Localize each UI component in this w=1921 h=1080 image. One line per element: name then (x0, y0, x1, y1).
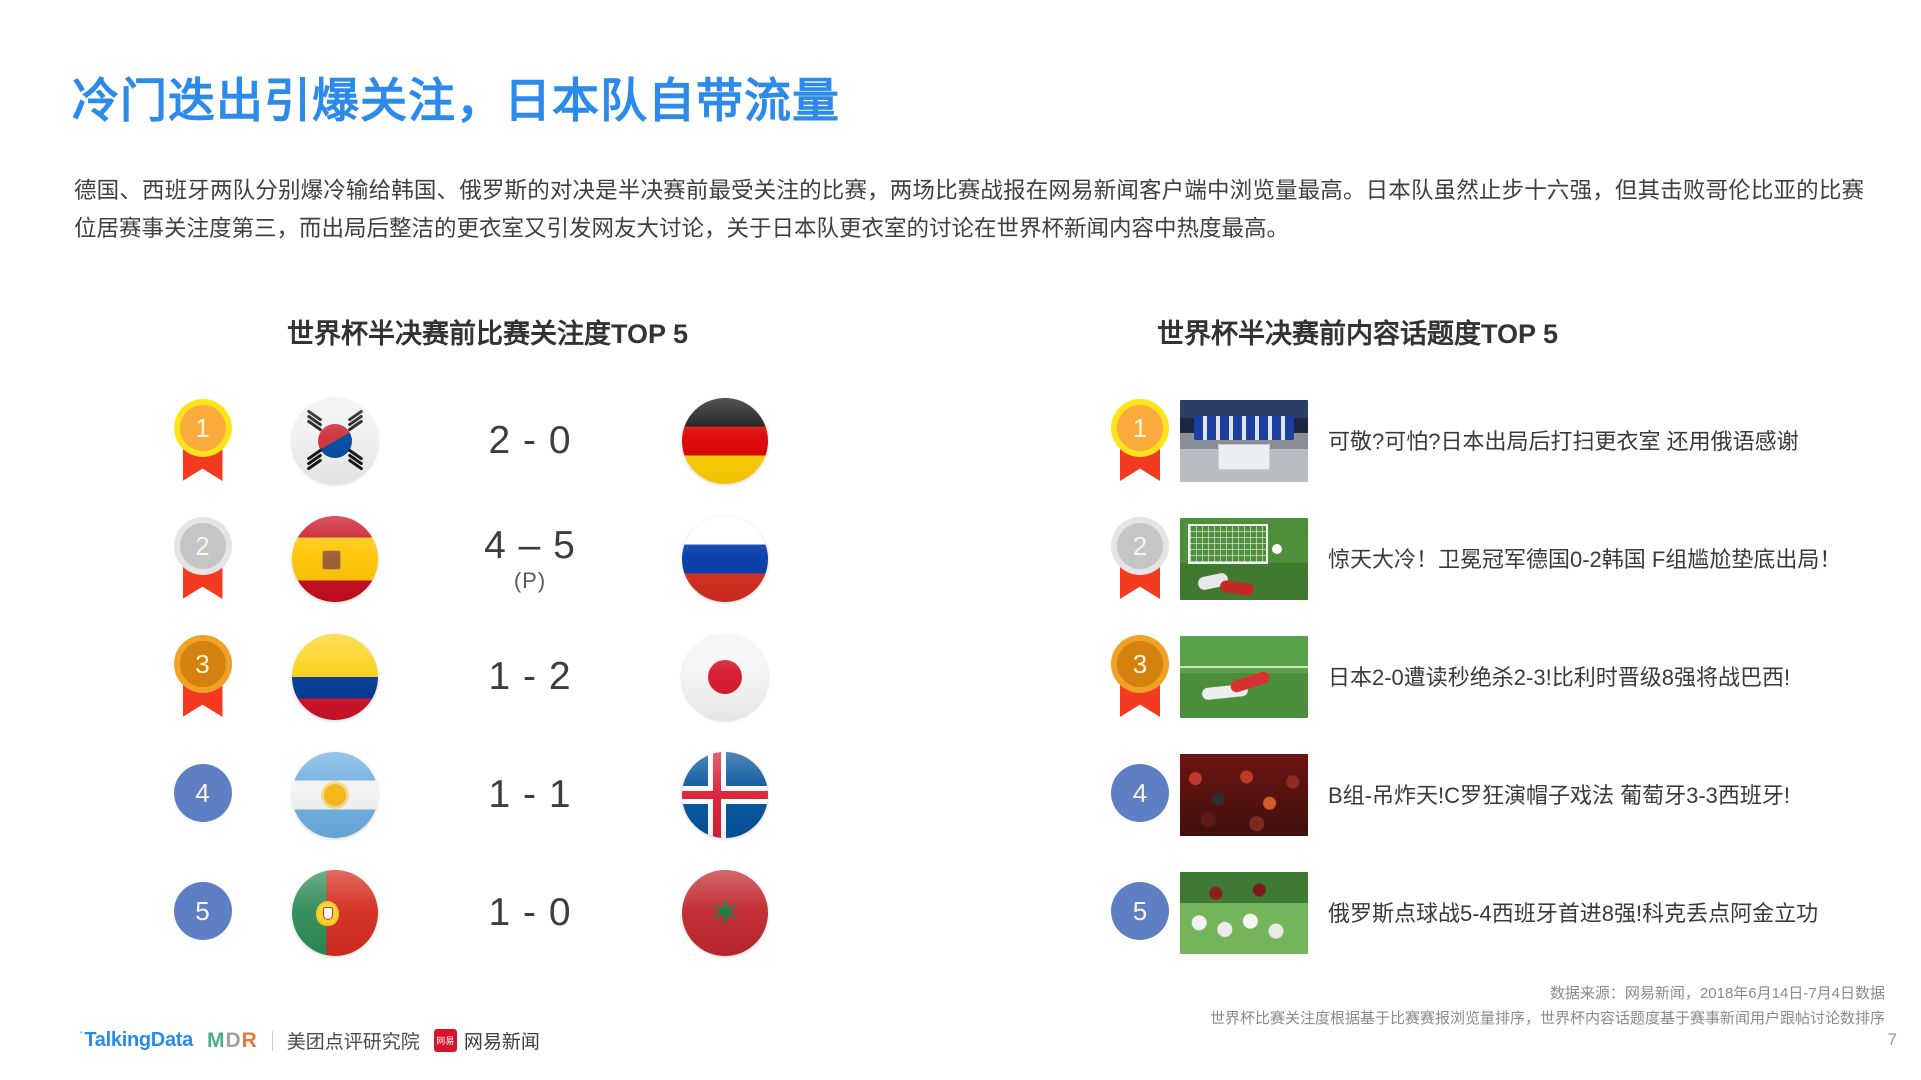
rank-number: 5 (1117, 888, 1163, 934)
japan-flag (682, 634, 768, 720)
russia-celebration-photo[interactable] (1180, 872, 1308, 954)
score-value: 2 - 0 (488, 419, 571, 462)
topic-row[interactable]: 3 日本2-0遭读秒绝杀2-3!比利时晋级8强将战巴西! (1100, 618, 1890, 736)
rank-medal-icon: 1 (172, 399, 234, 483)
rank-medal-icon: 3 (1109, 635, 1171, 719)
japan-belgium-photo[interactable] (1180, 636, 1308, 718)
colombia-flag (292, 634, 378, 720)
topic-title[interactable]: 惊天大冷！卫冕冠军德国0-2韩国 F组尴尬垫底出局！ (1308, 543, 1890, 576)
home-flag-cell (255, 398, 415, 484)
rank-circle-icon: 5 (172, 882, 234, 944)
rank-number: 1 (1117, 405, 1163, 451)
logo-divider (272, 1031, 273, 1051)
away-flag-cell (645, 634, 805, 720)
home-flag-cell (255, 634, 415, 720)
match-row[interactable]: 5 1 - 0 ✶ (150, 854, 870, 972)
away-flag-cell (645, 398, 805, 484)
korea-flag (292, 398, 378, 484)
rank-number: 3 (180, 641, 226, 687)
topic-row[interactable]: 5 俄罗斯点球战5-4西班牙首进8强!科克丢点阿金立功 (1100, 854, 1890, 972)
left-section-heading: 世界杯半决赛前比赛关注度TOP 5 (287, 312, 688, 351)
russia-flag (682, 516, 768, 602)
rank-number: 4 (1117, 770, 1163, 816)
topic-row[interactable]: 4 B组-吊炸天!C罗狂演帽子戏法 葡萄牙3-3西班牙! (1100, 736, 1890, 854)
rank-circle-icon: 5 (1109, 882, 1171, 944)
footer-logos: ˙TalkingData MDR 美团点评研究院 网易 网易新闻 (78, 1027, 540, 1054)
rank-medal-icon: 2 (172, 517, 234, 601)
away-flag-cell: ✶ (645, 870, 805, 956)
page-title: 冷门迭出引爆关注，日本队自带流量 (72, 62, 840, 131)
rank-badge-cell: 1 (150, 399, 255, 483)
rank-number: 3 (1117, 641, 1163, 687)
away-flag-cell (645, 516, 805, 602)
page-number: 7 (1888, 1030, 1897, 1050)
topic-row[interactable]: 2 惊天大冷！卫冕冠军德国0-2韩国 F组尴尬垫底出局！ (1100, 500, 1890, 618)
home-flag-cell (255, 870, 415, 956)
rank-circle-icon: 4 (1109, 764, 1171, 826)
right-section-heading: 世界杯半决赛前内容话题度TOP 5 (1157, 312, 1558, 351)
spain-flag (292, 516, 378, 602)
portugal-crowd-photo[interactable] (1180, 754, 1308, 836)
topic-title[interactable]: B组-吊炸天!C罗狂演帽子戏法 葡萄牙3-3西班牙! (1308, 779, 1890, 812)
match-score: 1 - 1 (415, 775, 645, 816)
pentagram-icon: ✶ (706, 894, 744, 932)
topic-title[interactable]: 俄罗斯点球战5-4西班牙首进8强!科克丢点阿金立功 (1308, 897, 1890, 930)
sun-of-may-icon (324, 784, 346, 806)
rank-badge-cell: 4 (150, 764, 255, 826)
topic-title[interactable]: 日本2-0遭读秒绝杀2-3!比利时晋级8强将战巴西! (1308, 661, 1890, 694)
slide-root: 冷门迭出引爆关注，日本队自带流量 德国、西班牙两队分别爆冷输给韩国、俄罗斯的对决… (0, 0, 1921, 1080)
rank-badge-cell: 2 (150, 517, 255, 601)
score-value: 4 – 5 (484, 524, 576, 567)
rank-badge-cell: 5 (1100, 882, 1180, 944)
argentina-flag (292, 752, 378, 838)
rank-circle-icon: 4 (172, 764, 234, 826)
iceland-flag (682, 752, 768, 838)
rank-badge-cell: 4 (1100, 764, 1180, 826)
home-flag-cell (255, 752, 415, 838)
rank-number: 2 (1117, 523, 1163, 569)
match-score: 4 – 5 (P) (415, 526, 645, 592)
morocco-flag: ✶ (682, 870, 768, 956)
mdr-logo: MDR (207, 1029, 258, 1053)
rank-medal-icon: 2 (1109, 517, 1171, 601)
match-score: 1 - 2 (415, 657, 645, 698)
score-value: 1 - 1 (488, 773, 571, 816)
match-row[interactable]: 1 (150, 382, 870, 500)
spain-crest (322, 550, 341, 570)
rank-badge-cell: 5 (150, 882, 255, 944)
rank-badge-cell: 2 (1100, 517, 1180, 601)
netease-news-logo: 网易 网易新闻 (434, 1027, 540, 1054)
match-attention-list: 1 (150, 382, 870, 972)
rank-medal-icon: 1 (1109, 399, 1171, 483)
talkingdata-logo: ˙TalkingData (78, 1029, 193, 1052)
match-score: 2 - 0 (415, 421, 645, 462)
topic-title[interactable]: 可敬?可怕?日本出局后打扫更衣室 还用俄语感谢 (1308, 425, 1890, 458)
intro-paragraph: 德国、西班牙两队分别爆冷输给韩国、俄罗斯的对决是半决赛前最受关注的比赛，两场比赛… (74, 172, 1864, 248)
score-value: 1 - 0 (488, 891, 571, 934)
portugal-flag (292, 870, 378, 956)
penalty-note: (P) (415, 569, 645, 592)
meituan-research-logo: 美团点评研究院 (287, 1027, 420, 1054)
home-flag-cell (255, 516, 415, 602)
match-row[interactable]: 4 1 - 1 (150, 736, 870, 854)
rank-medal-icon: 3 (172, 635, 234, 719)
match-score: 1 - 0 (415, 893, 645, 934)
match-row[interactable]: 2 4 – 5 (P) (150, 500, 870, 618)
content-topic-list: 1 可敬?可怕?日本出局后打扫更衣室 还用俄语感谢 2 惊天大冷！卫冕冠军德国0… (1100, 382, 1890, 972)
japan-sun-disc (708, 660, 742, 694)
match-row[interactable]: 3 1 - 2 (150, 618, 870, 736)
score-value: 1 - 2 (488, 655, 571, 698)
rank-number: 2 (180, 523, 226, 569)
portugal-shield-icon (316, 901, 339, 926)
rank-number: 1 (180, 405, 226, 451)
rank-badge-cell: 1 (1100, 399, 1180, 483)
locker-room-photo[interactable] (1180, 400, 1308, 482)
source-note: 数据来源：网易新闻，2018年6月14日-7月4日数据 世界杯比赛关注度根据基于… (1210, 981, 1885, 1031)
away-flag-cell (645, 752, 805, 838)
topic-row[interactable]: 1 可敬?可怕?日本出局后打扫更衣室 还用俄语感谢 (1100, 382, 1890, 500)
rank-badge-cell: 3 (150, 635, 255, 719)
source-line-1: 数据来源：网易新闻，2018年6月14日-7月4日数据 (1210, 981, 1885, 1006)
goal-save-photo[interactable] (1180, 518, 1308, 600)
rank-badge-cell: 3 (1100, 635, 1180, 719)
rank-number: 5 (180, 888, 226, 934)
netease-mark-icon: 网易 (434, 1029, 457, 1052)
rank-number: 4 (180, 770, 226, 816)
source-line-2: 世界杯比赛关注度根据基于比赛赛报浏览量排序，世界杯内容话题度基于赛事新闻用户跟帖… (1210, 1006, 1885, 1031)
germany-flag (682, 398, 768, 484)
